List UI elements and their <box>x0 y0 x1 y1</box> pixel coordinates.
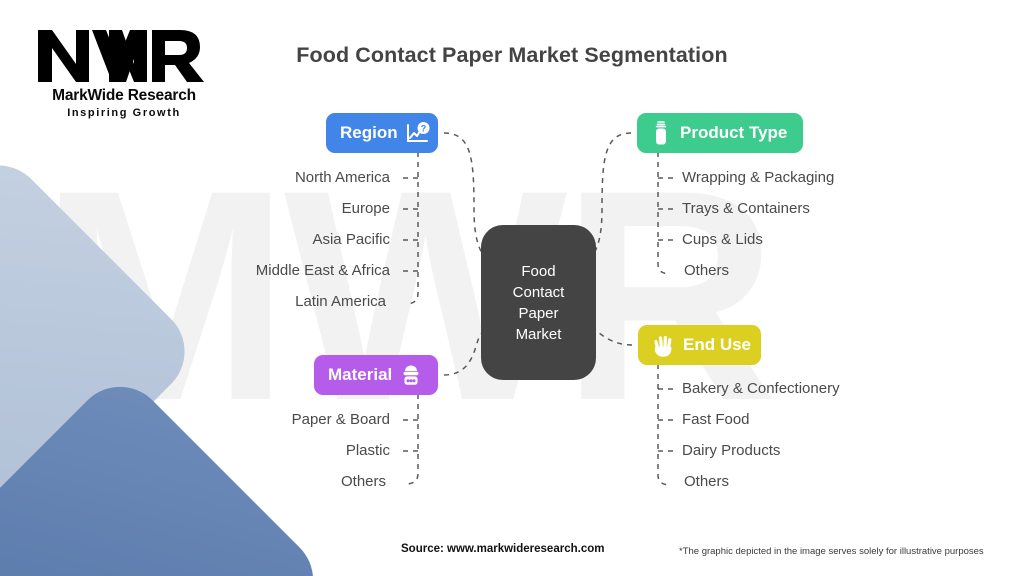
svg-text:?: ? <box>420 123 426 133</box>
spine-enduse <box>658 364 668 485</box>
page-title: Food Contact Paper Market Segmentation <box>0 43 1024 68</box>
leaf-material-2: Others <box>150 474 386 490</box>
branch-badge-product-type[interactable]: Product Type <box>637 113 803 153</box>
leaf-region-1: Europe <box>150 201 390 217</box>
leaf-product-type-2: Cups & Lids <box>682 232 763 248</box>
spine-material <box>408 394 418 484</box>
leaf-end-use-2: Dairy Products <box>682 443 780 459</box>
leaf-material-1: Plastic <box>150 443 390 459</box>
spine-region <box>408 152 418 304</box>
center-node: Food Contact Paper Market <box>481 225 596 380</box>
branch-label-end-use: End Use <box>683 335 751 355</box>
branch-label-region: Region <box>340 123 398 143</box>
brand-name: MarkWide Research <box>34 87 214 105</box>
branch-label-material: Material <box>328 365 392 385</box>
center-node-label: Food Contact Paper Market <box>513 261 565 345</box>
leaf-product-type-1: Trays & Containers <box>682 201 810 217</box>
branch-badge-end-use[interactable]: End Use <box>638 325 761 365</box>
branch-badge-region[interactable]: Region ? <box>326 113 438 153</box>
spine-product <box>658 152 668 274</box>
leaf-end-use-0: Bakery & Confectionery <box>682 381 840 397</box>
infographic-canvas: MWR MarkWide Research Inspiring Growth F… <box>0 0 1024 576</box>
branch-badge-material[interactable]: Material <box>314 355 438 395</box>
leaf-product-type-0: Wrapping & Packaging <box>682 170 834 186</box>
branch-label-product-type: Product Type <box>680 123 787 143</box>
leaf-end-use-3: Others <box>684 474 729 490</box>
leaf-region-3: Middle East & Africa <box>150 263 390 279</box>
brand-tagline: Inspiring Growth <box>34 107 214 119</box>
hand-icon <box>652 333 675 358</box>
leaf-material-0: Paper & Board <box>150 412 390 428</box>
leaf-end-use-1: Fast Food <box>682 412 750 428</box>
jar-container-icon <box>651 121 671 146</box>
food-bowl-icon <box>400 363 422 388</box>
source-label: Source: www.markwideresearch.com <box>401 543 604 555</box>
chart-question-icon: ? <box>405 122 430 145</box>
leaf-region-4: Latin America <box>150 294 386 310</box>
leaf-region-0: North America <box>150 170 390 186</box>
leaf-region-2: Asia Pacific <box>150 232 390 248</box>
leaf-product-type-3: Others <box>684 263 729 279</box>
brand-logo: MarkWide Research Inspiring Growth <box>34 24 214 119</box>
disclaimer-label: *The graphic depicted in the image serve… <box>679 546 984 557</box>
